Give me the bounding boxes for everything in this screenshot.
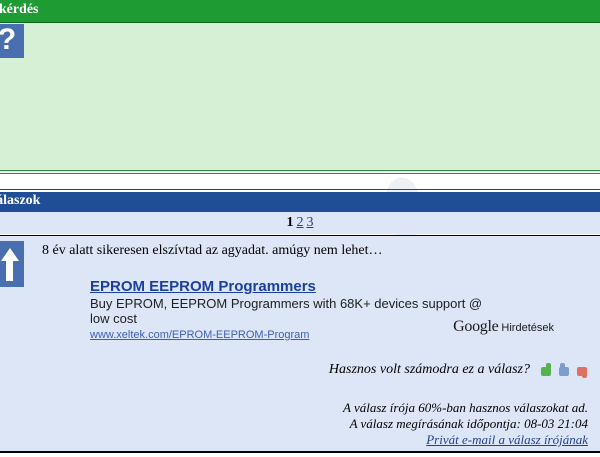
question-section-label: A kérdés bbox=[0, 2, 39, 18]
pagination-link-3[interactable]: 3 bbox=[307, 215, 314, 230]
divider bbox=[0, 451, 600, 453]
answer-reputation: A válasz írója 60%-ban hasznos válaszoka… bbox=[188, 400, 588, 416]
answer-text: 8 év alatt sikeresen elszívtad az agyada… bbox=[42, 243, 562, 259]
google-ads-brand: GoogleHirdetések bbox=[453, 318, 554, 336]
ad-url-link[interactable]: www.xeltek.com/EPROM-EEPROM-Program bbox=[90, 329, 309, 341]
pagination-current: 1 bbox=[287, 215, 294, 230]
divider bbox=[0, 173, 600, 174]
google-logo: Google bbox=[453, 318, 498, 335]
thumbs-up-icon[interactable] bbox=[539, 363, 554, 378]
divider bbox=[0, 170, 600, 171]
up-arrow-icon bbox=[0, 241, 24, 287]
up-arrow-stem bbox=[6, 260, 13, 281]
answer-footer: A válasz írója 60%-ban hasznos válaszoka… bbox=[188, 400, 588, 448]
question-panel bbox=[0, 22, 600, 172]
answers-section-bar: Válaszok bbox=[0, 192, 600, 212]
page-root: Huszár A kérdés ? Agykontrollal ki lehet… bbox=[0, 0, 600, 457]
question-mark-icon: ? bbox=[0, 24, 24, 58]
ad-description: Buy EPROM, EEPROM Programmers with 68K+ … bbox=[90, 296, 490, 326]
vote-prompt: Hasznos volt számodra ez a válasz? bbox=[329, 362, 530, 378]
private-email-link[interactable]: Privát e-mail a válasz írójának bbox=[426, 432, 588, 447]
thumbs-down-icon[interactable] bbox=[575, 363, 590, 378]
google-ads-label: Hirdetések bbox=[501, 322, 554, 334]
google-ad: EPROM EEPROM Programmers Buy EPROM, EEPR… bbox=[90, 278, 560, 342]
answers-section-label: Válaszok bbox=[0, 193, 40, 209]
answer-timestamp: A válasz megírásának időpontja: 08-03 21… bbox=[188, 416, 588, 432]
vote-row: Hasznos volt számodra ez a válasz? bbox=[329, 362, 590, 378]
ad-title-link[interactable]: EPROM EEPROM Programmers bbox=[90, 278, 316, 295]
pagination: 123 bbox=[0, 215, 600, 231]
pagination-link-2[interactable]: 2 bbox=[297, 215, 304, 230]
question-mark-glyph: ? bbox=[0, 25, 16, 55]
divider bbox=[0, 235, 600, 236]
question-section-bar: A kérdés bbox=[0, 0, 600, 23]
divider bbox=[0, 189, 600, 190]
neutral-hand-icon[interactable] bbox=[557, 363, 572, 378]
